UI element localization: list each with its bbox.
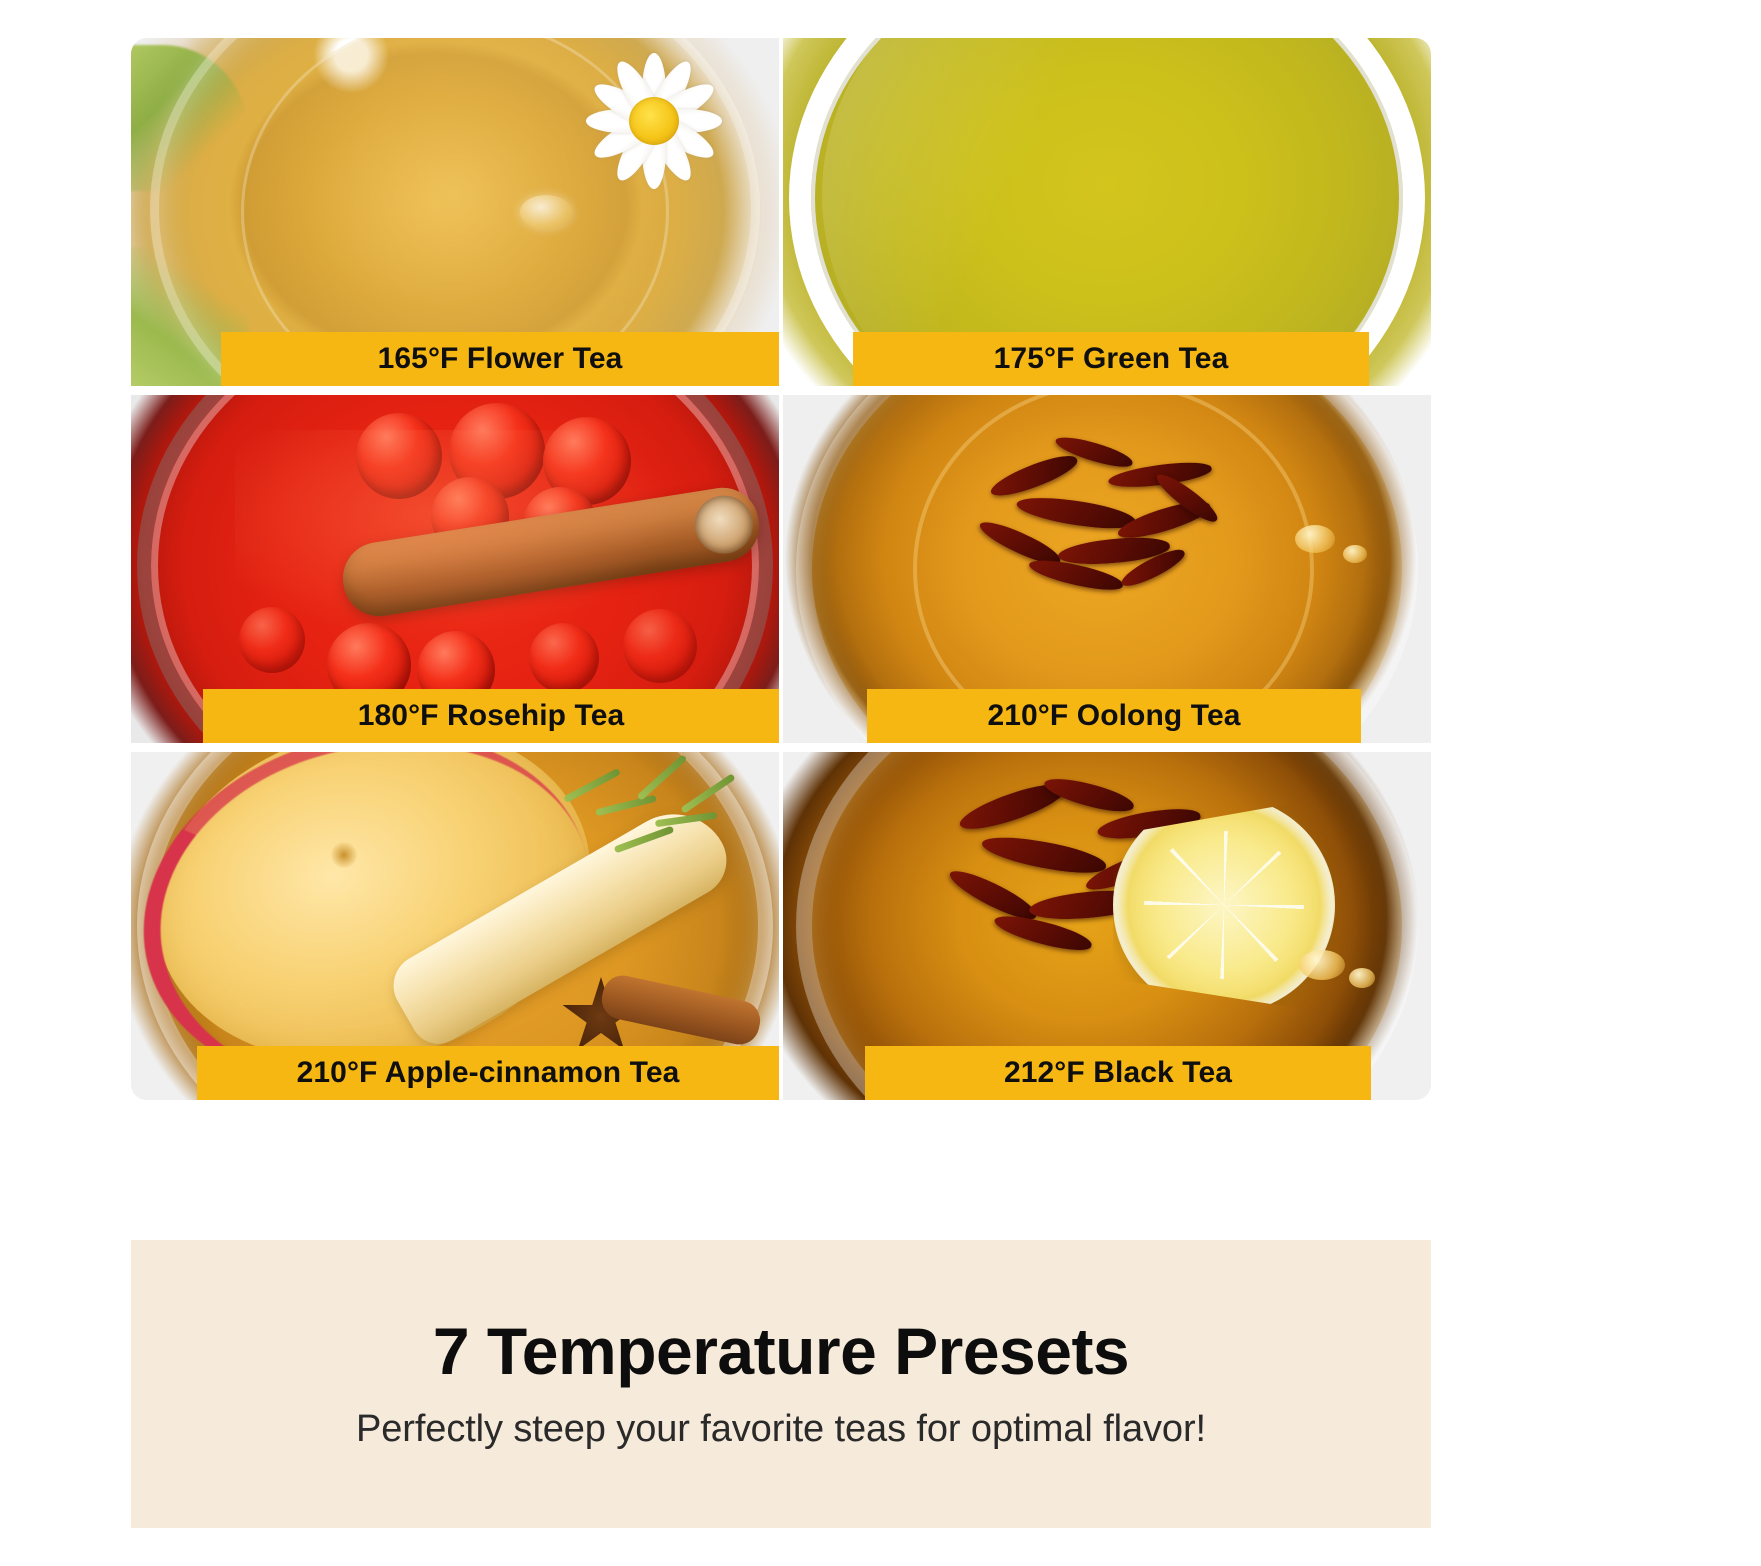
- page-subtitle: Perfectly steep your favorite teas for o…: [356, 1408, 1206, 1451]
- tea-tile-apple-cinnamon[interactable]: 210°F Apple-cinnamon Tea: [131, 752, 779, 1100]
- tea-leaves-icon: [958, 435, 1248, 610]
- tea-tile-green[interactable]: 175°F Green Tea: [783, 38, 1431, 386]
- rosemary-sprig-icon: [551, 764, 741, 874]
- tea-tile-rosehip[interactable]: 180°F Rosehip Tea: [131, 395, 779, 743]
- tea-preset-grid: 165°F Flower Tea 175°F Green Tea: [131, 38, 1431, 1100]
- tea-tile-black[interactable]: 212°F Black Tea: [783, 752, 1431, 1100]
- tea-tile-label: 165°F Flower Tea: [221, 332, 779, 386]
- tea-tile-label: 212°F Black Tea: [865, 1046, 1371, 1100]
- tea-tile-flower[interactable]: 165°F Flower Tea: [131, 38, 779, 386]
- tea-tile-label: 180°F Rosehip Tea: [203, 689, 779, 743]
- infographic-page: 165°F Flower Tea 175°F Green Tea: [0, 0, 1761, 1566]
- tea-tile-label: 175°F Green Tea: [853, 332, 1369, 386]
- page-title: 7 Temperature Presets: [433, 1317, 1129, 1386]
- daisy-flower-icon: [561, 46, 747, 196]
- tea-tile-oolong[interactable]: 210°F Oolong Tea: [783, 395, 1431, 743]
- footer-panel: 7 Temperature Presets Perfectly steep yo…: [131, 1240, 1431, 1528]
- tea-tile-label: 210°F Oolong Tea: [867, 689, 1361, 743]
- tea-tile-label: 210°F Apple-cinnamon Tea: [197, 1046, 779, 1100]
